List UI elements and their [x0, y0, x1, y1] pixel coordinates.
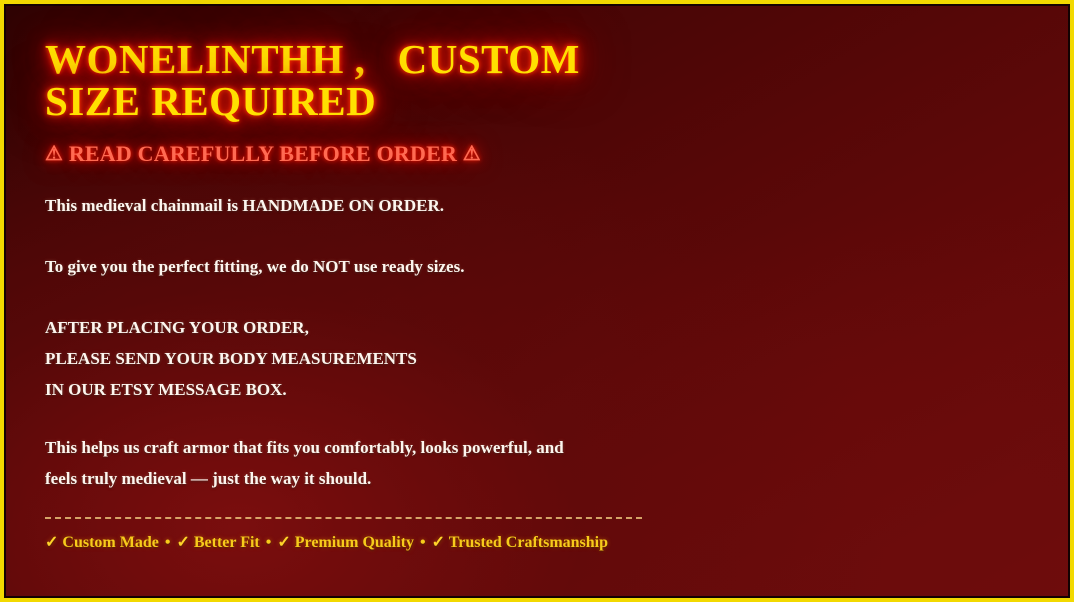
page-title: WONELINTHH , CUSTOM SIZE REQUIRED [45, 38, 1050, 122]
instruction-line-after-order: AFTER PLACING YOUR ORDER, [45, 312, 1050, 343]
banner-content: WONELINTHH , CUSTOM SIZE REQUIRED ⚠ READ… [45, 38, 1050, 553]
spacer [45, 405, 1050, 432]
benefit-item-0: Custom Made [62, 534, 158, 551]
benefits-footer: ✓ Custom Made • ✓ Better Fit • ✓ Premium… [45, 533, 1050, 553]
check-icon: ✓ [176, 534, 189, 551]
spacer [45, 282, 1050, 312]
dotted-divider [45, 517, 642, 519]
banner-body: This medieval chainmail is HANDMADE ON O… [45, 190, 1050, 494]
check-icon: ✓ [277, 534, 290, 551]
warning-triangle-icon-left: ⚠ [45, 143, 63, 165]
body-paragraph-handmade: This medieval chainmail is HANDMADE ON O… [45, 190, 1050, 221]
benefit-item-1: Better Fit [194, 534, 260, 551]
bullet-separator: • [163, 534, 173, 551]
body-paragraph-fit-line2: feels truly medieval — just the way it s… [45, 463, 1050, 494]
benefit-item-3: Trusted Craftsmanship [449, 534, 608, 551]
promo-banner: WONELINTHH , CUSTOM SIZE REQUIRED ⚠ READ… [0, 0, 1074, 602]
body-paragraph-no-ready-sizes: To give you the perfect fitting, we do N… [45, 251, 1050, 282]
bullet-separator: • [264, 534, 274, 551]
check-icon: ✓ [45, 534, 58, 551]
benefit-item-2: Premium Quality [295, 534, 414, 551]
instruction-line-message-box: IN OUR ETSY MESSAGE BOX. [45, 374, 1050, 405]
instruction-line-send-measurements: PLEASE SEND YOUR BODY MEASUREMENTS [45, 343, 1050, 374]
warning-headline: ⚠ READ CAREFULLY BEFORE ORDER ⚠ [45, 142, 1050, 166]
spacer [45, 221, 1050, 251]
check-icon: ✓ [432, 534, 445, 551]
bullet-separator: • [418, 534, 428, 551]
warning-headline-text: READ CAREFULLY BEFORE ORDER [69, 141, 457, 166]
body-paragraph-fit-line1: This helps us craft armor that fits you … [45, 432, 1050, 463]
warning-triangle-icon-right: ⚠ [463, 143, 481, 165]
